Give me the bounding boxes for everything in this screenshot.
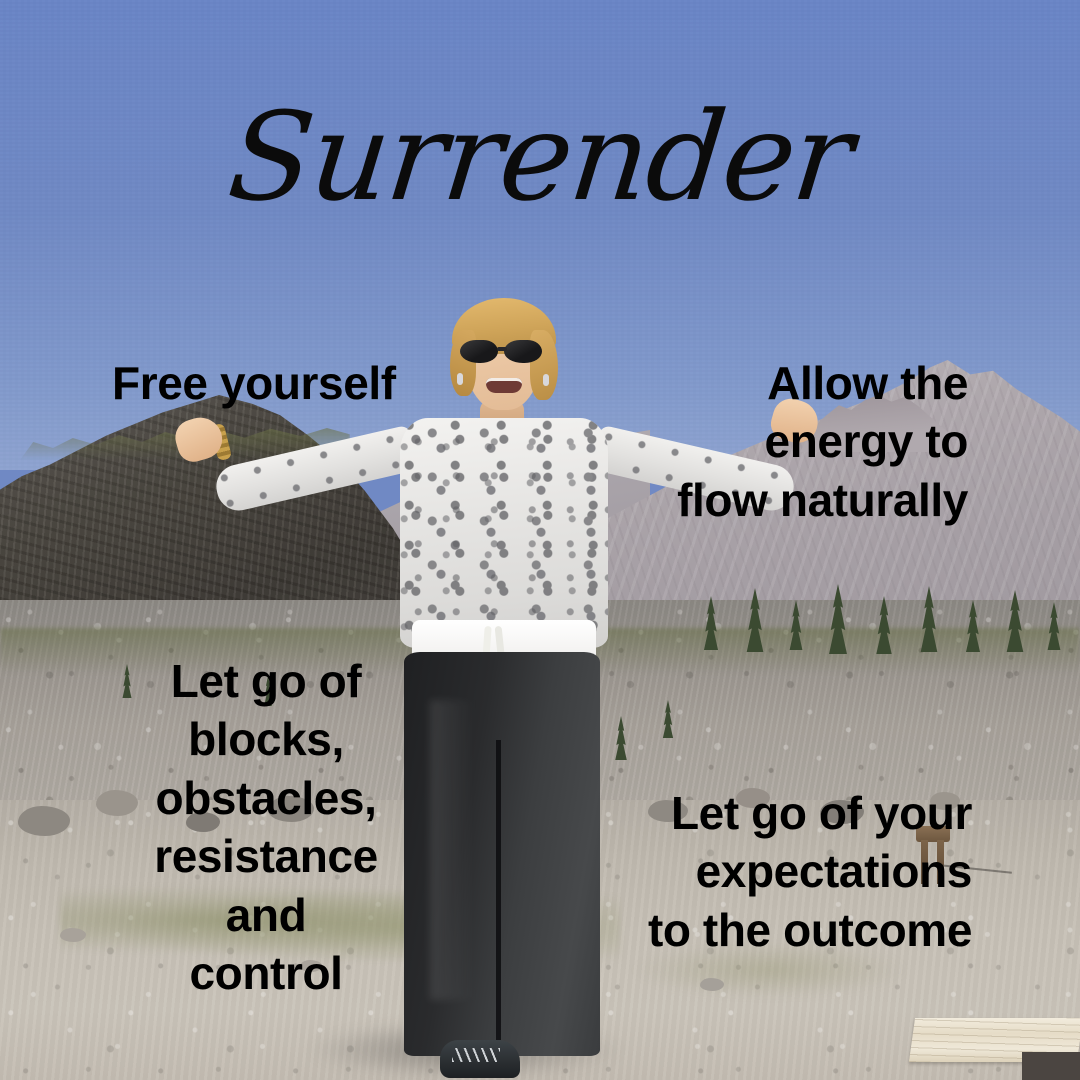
message-line: to the outcome xyxy=(648,901,972,959)
text-overlay: Surrender Free yourself Allow the energy… xyxy=(0,0,1080,1080)
page-title: Surrender xyxy=(0,96,1080,218)
message-expectations: Let go of your expectations to the outco… xyxy=(648,784,972,959)
message-line: Allow the xyxy=(677,354,968,412)
message-line: obstacles, xyxy=(150,769,382,827)
message-line: resistance xyxy=(150,827,382,885)
message-line: expectations xyxy=(648,842,972,900)
message-line: Free yourself xyxy=(112,354,396,412)
message-line: Let go of your xyxy=(648,784,972,842)
surrender-poster: Surrender Free yourself Allow the energy… xyxy=(0,0,1080,1080)
message-line: and control xyxy=(150,886,382,1003)
message-allow-energy: Allow the energy to flow naturally xyxy=(677,354,968,529)
message-line: blocks, xyxy=(150,710,382,768)
message-line: energy to xyxy=(677,412,968,470)
message-line: Let go of xyxy=(150,652,382,710)
message-line: flow naturally xyxy=(677,471,968,529)
message-free-yourself: Free yourself xyxy=(112,354,396,412)
message-let-go-of-blocks: Let go of blocks, obstacles, resistance … xyxy=(150,652,382,1002)
